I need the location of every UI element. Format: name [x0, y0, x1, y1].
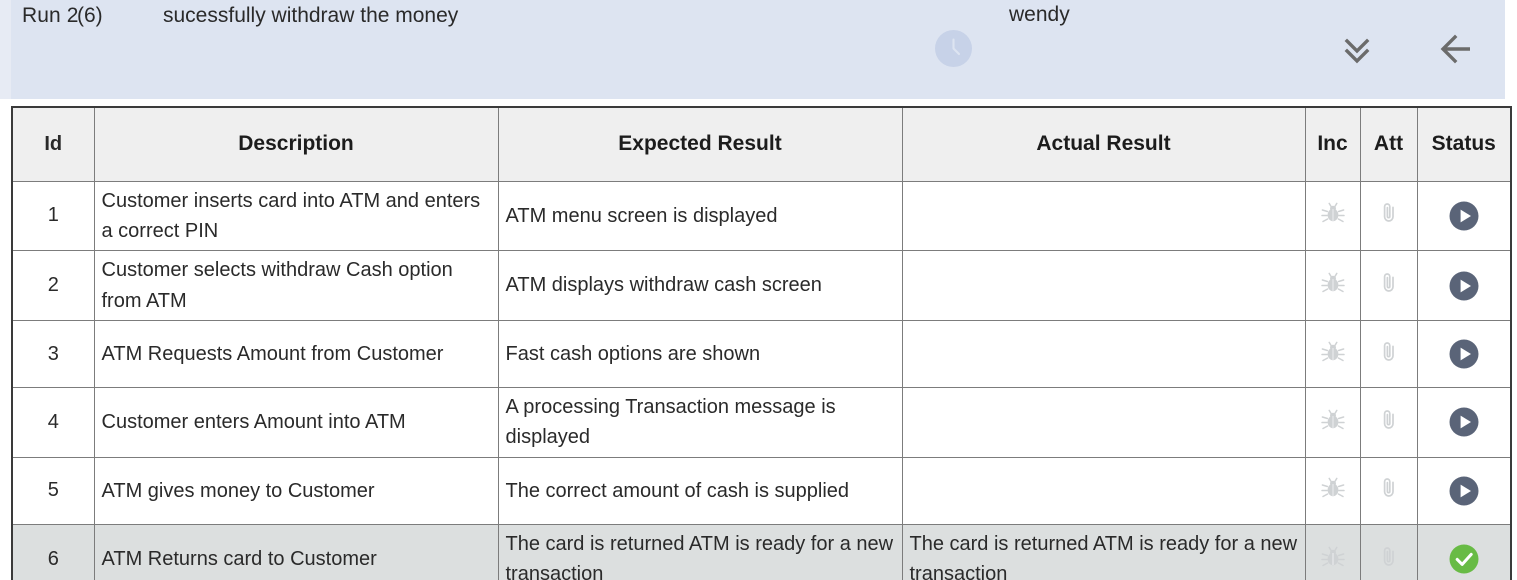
table-row[interactable]: 2Customer selects withdraw Cash option f…: [13, 251, 1510, 321]
column-header-status[interactable]: Status: [1417, 108, 1510, 181]
clock-icon: [935, 30, 972, 67]
cell-expected-result[interactable]: Fast cash options are shown: [498, 321, 902, 388]
cell-id: 1: [13, 181, 94, 251]
bug-icon[interactable]: [1320, 544, 1346, 570]
column-header-description[interactable]: Description: [94, 108, 498, 181]
cell-attachment[interactable]: [1360, 251, 1417, 321]
cell-incident[interactable]: [1305, 321, 1360, 388]
paperclip-icon[interactable]: [1376, 200, 1402, 226]
column-header-inc[interactable]: Inc: [1305, 108, 1360, 181]
cell-attachment[interactable]: [1360, 457, 1417, 524]
cell-actual-result-text: The card is returned ATM is ready for a …: [903, 525, 1305, 580]
cell-actual-result[interactable]: The card is returned ATM is ready for a …: [902, 524, 1305, 580]
cell-id: 6: [13, 524, 94, 580]
double-chevron-down-icon[interactable]: [1336, 28, 1378, 70]
play-icon[interactable]: [1448, 338, 1480, 370]
cell-actual-result[interactable]: [902, 251, 1305, 321]
cell-id: 2: [13, 251, 94, 321]
cell-status[interactable]: [1417, 457, 1510, 524]
cell-description-text: ATM Requests Amount from Customer: [95, 335, 498, 373]
cell-expected-result-text: A processing Transaction message is disp…: [499, 388, 902, 457]
column-header-id[interactable]: Id: [13, 108, 94, 181]
run-title: Run 2: [22, 4, 79, 28]
run-header-bar: Run 2 (6) sucessfully withdraw the money…: [0, 0, 1505, 99]
column-header-att[interactable]: Att: [1360, 108, 1417, 181]
column-header-actual-result[interactable]: Actual Result: [902, 108, 1305, 181]
cell-incident[interactable]: [1305, 457, 1360, 524]
cell-expected-result-text: The correct amount of cash is supplied: [499, 472, 902, 510]
cell-actual-result-text: [903, 282, 1305, 290]
cell-description-text: ATM Returns card to Customer: [95, 540, 498, 578]
cell-id: 5: [13, 457, 94, 524]
cell-attachment[interactable]: [1360, 524, 1417, 580]
cell-actual-result-text: [903, 418, 1305, 426]
table-header: Id Description Expected Result Actual Re…: [13, 108, 1510, 181]
cell-status[interactable]: [1417, 181, 1510, 251]
paperclip-icon[interactable]: [1376, 407, 1402, 433]
play-icon[interactable]: [1448, 270, 1480, 302]
bug-icon[interactable]: [1320, 339, 1346, 365]
cell-description-text: ATM gives money to Customer: [95, 472, 498, 510]
cell-actual-result-text: [903, 487, 1305, 495]
cell-expected-result-text: Fast cash options are shown: [499, 335, 902, 373]
run-subject-text: sucessfully withdraw the money: [163, 4, 458, 28]
bug-icon[interactable]: [1320, 407, 1346, 433]
cell-expected-result-text: ATM menu screen is displayed: [499, 197, 902, 235]
table-row[interactable]: 4Customer enters Amount into ATMA proces…: [13, 388, 1510, 458]
test-steps-table-container: Id Description Expected Result Actual Re…: [11, 106, 1512, 580]
cell-status[interactable]: [1417, 388, 1510, 458]
cell-incident[interactable]: [1305, 388, 1360, 458]
cell-attachment[interactable]: [1360, 181, 1417, 251]
header-left-gutter: [0, 0, 11, 99]
cell-incident[interactable]: [1305, 181, 1360, 251]
cell-expected-result[interactable]: The correct amount of cash is supplied: [498, 457, 902, 524]
cell-description[interactable]: Customer selects withdraw Cash option fr…: [94, 251, 498, 321]
cell-description-text: Customer inserts card into ATM and enter…: [95, 182, 498, 251]
paperclip-icon[interactable]: [1376, 475, 1402, 501]
cell-actual-result[interactable]: [902, 181, 1305, 251]
cell-description[interactable]: Customer inserts card into ATM and enter…: [94, 181, 498, 251]
cell-status[interactable]: [1417, 251, 1510, 321]
cell-actual-result-text: [903, 212, 1305, 220]
cell-expected-result[interactable]: ATM menu screen is displayed: [498, 181, 902, 251]
column-header-expected-result[interactable]: Expected Result: [498, 108, 902, 181]
table-row[interactable]: 5ATM gives money to CustomerThe correct …: [13, 457, 1510, 524]
cell-id: 3: [13, 321, 94, 388]
cell-actual-result[interactable]: [902, 388, 1305, 458]
cell-description-text: Customer enters Amount into ATM: [95, 403, 498, 441]
cell-status[interactable]: [1417, 524, 1510, 580]
paperclip-icon[interactable]: [1376, 339, 1402, 365]
play-icon[interactable]: [1448, 406, 1480, 438]
paperclip-icon[interactable]: [1376, 270, 1402, 296]
cell-id: 4: [13, 388, 94, 458]
table-row[interactable]: 6ATM Returns card to CustomerThe card is…: [13, 524, 1510, 580]
check-icon[interactable]: [1448, 543, 1480, 575]
cell-incident[interactable]: [1305, 524, 1360, 580]
cell-description-text: Customer selects withdraw Cash option fr…: [95, 251, 498, 320]
cell-expected-result[interactable]: ATM displays withdraw cash screen: [498, 251, 902, 321]
table-row[interactable]: 3ATM Requests Amount from CustomerFast c…: [13, 321, 1510, 388]
paperclip-icon[interactable]: [1376, 544, 1402, 570]
cell-actual-result-text: [903, 350, 1305, 358]
test-run-steps-screen: Run 2 (6) sucessfully withdraw the money…: [0, 0, 1517, 580]
cell-description[interactable]: ATM Requests Amount from Customer: [94, 321, 498, 388]
table-row[interactable]: 1Customer inserts card into ATM and ente…: [13, 181, 1510, 251]
run-owner-name: wendy: [1009, 3, 1070, 27]
cell-description[interactable]: ATM Returns card to Customer: [94, 524, 498, 580]
play-icon[interactable]: [1448, 475, 1480, 507]
cell-expected-result[interactable]: A processing Transaction message is disp…: [498, 388, 902, 458]
cell-status[interactable]: [1417, 321, 1510, 388]
cell-description[interactable]: ATM gives money to Customer: [94, 457, 498, 524]
cell-incident[interactable]: [1305, 251, 1360, 321]
bug-icon[interactable]: [1320, 475, 1346, 501]
cell-description[interactable]: Customer enters Amount into ATM: [94, 388, 498, 458]
cell-actual-result[interactable]: [902, 457, 1305, 524]
cell-attachment[interactable]: [1360, 321, 1417, 388]
cell-expected-result[interactable]: The card is returned ATM is ready for a …: [498, 524, 902, 580]
cell-attachment[interactable]: [1360, 388, 1417, 458]
table-header-row: Id Description Expected Result Actual Re…: [13, 108, 1510, 181]
test-steps-table: Id Description Expected Result Actual Re…: [13, 108, 1510, 580]
arrow-left-icon[interactable]: [1436, 28, 1478, 70]
bug-icon[interactable]: [1320, 200, 1346, 226]
table-body: 1Customer inserts card into ATM and ente…: [13, 181, 1510, 580]
run-step-count: (6): [77, 4, 103, 28]
cell-actual-result[interactable]: [902, 321, 1305, 388]
cell-expected-result-text: ATM displays withdraw cash screen: [499, 266, 902, 304]
bug-icon[interactable]: [1320, 270, 1346, 296]
play-icon[interactable]: [1448, 200, 1480, 232]
cell-expected-result-text: The card is returned ATM is ready for a …: [499, 525, 902, 580]
